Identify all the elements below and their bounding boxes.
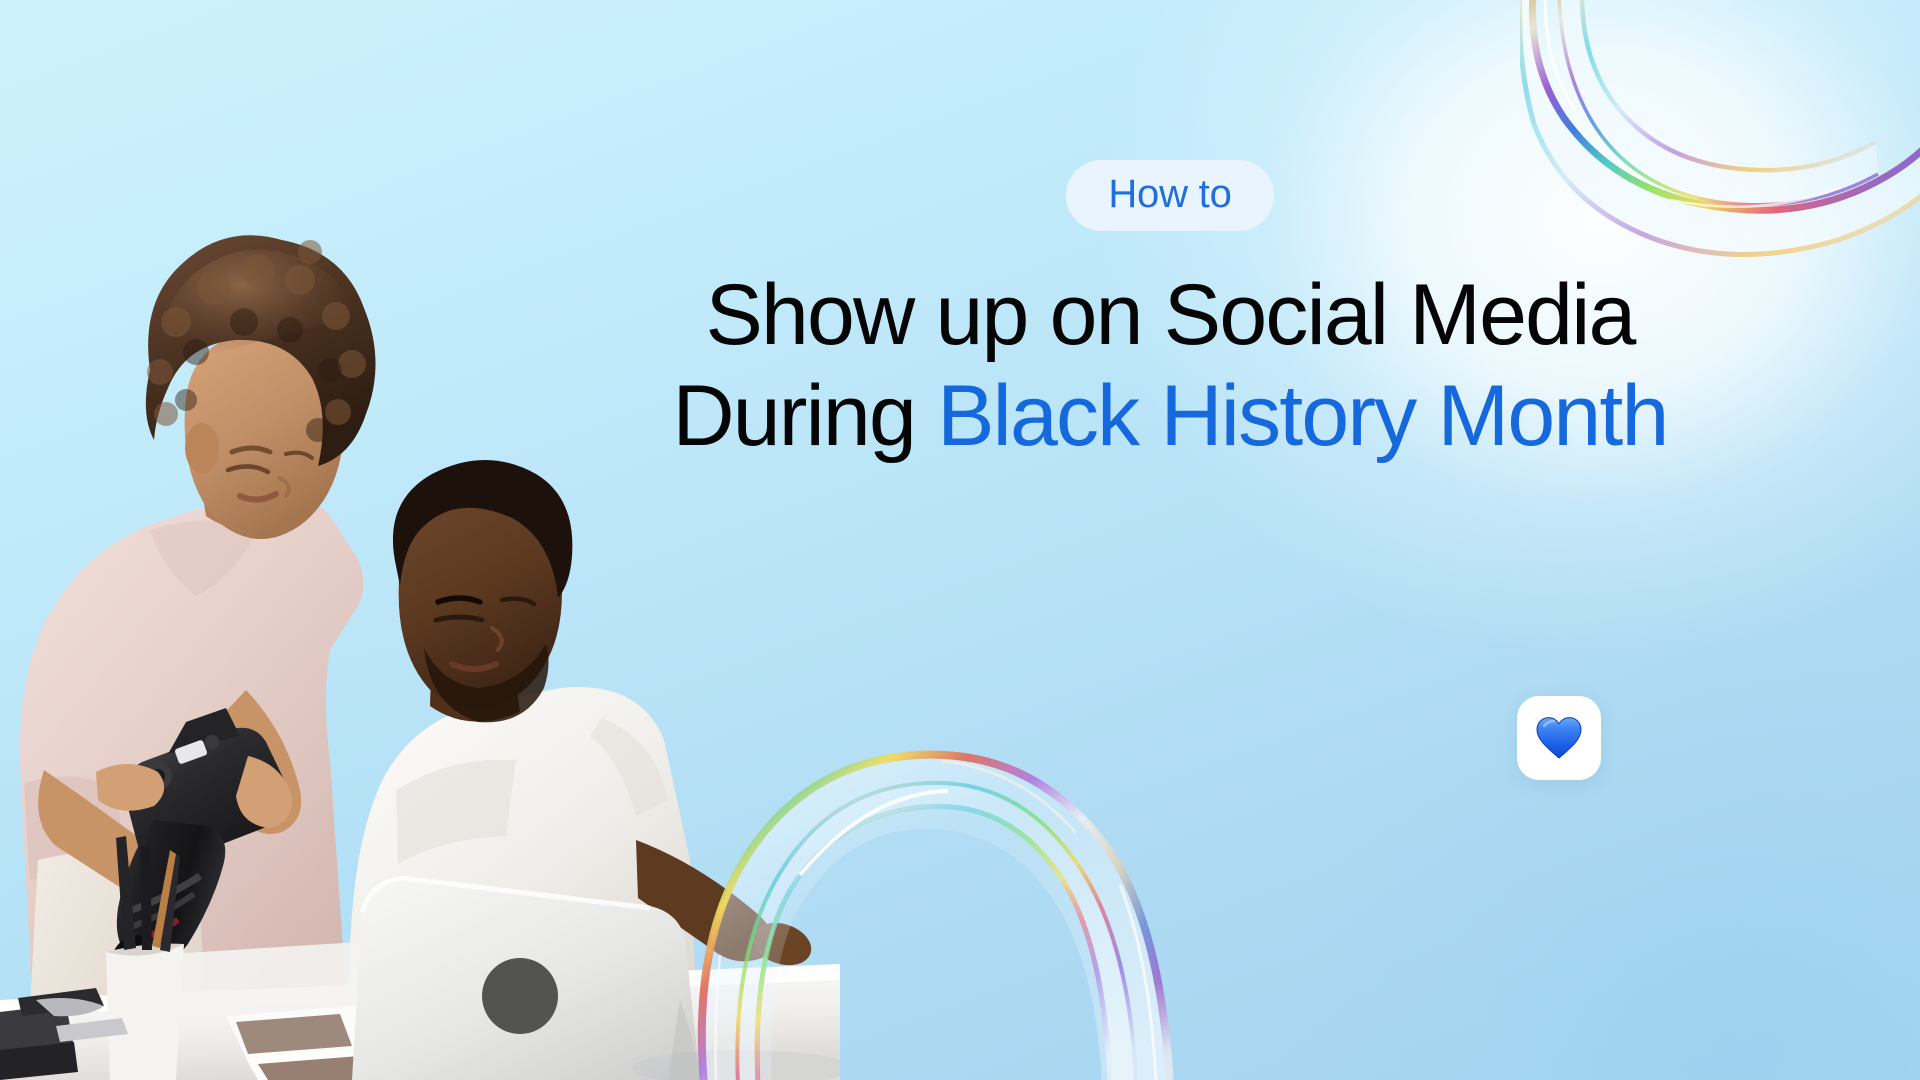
blue-heart-icon xyxy=(1536,716,1582,760)
hero-content: How to Show up on Social Media During Bl… xyxy=(520,160,1820,468)
page-title: Show up on Social Media During Black His… xyxy=(520,265,1820,468)
headline-line-1: Show up on Social Media xyxy=(520,265,1820,366)
headline-accent: Black History Month xyxy=(937,368,1667,464)
headline-line-2-plain: During xyxy=(672,368,937,464)
how-to-badge: How to xyxy=(1066,160,1273,231)
headline-line-2: During Black History Month xyxy=(520,366,1820,467)
blue-heart-badge xyxy=(1517,696,1601,780)
hero-banner: How to Show up on Social Media During Bl… xyxy=(0,0,1920,1080)
